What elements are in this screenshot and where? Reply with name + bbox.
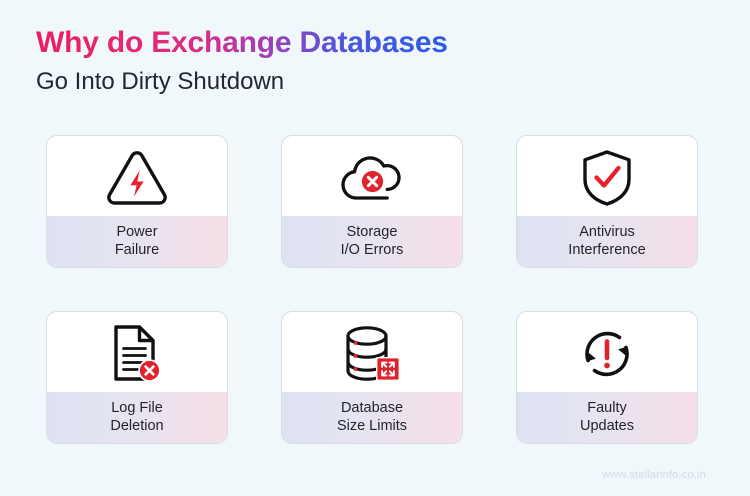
page-subtitle: Go Into Dirty Shutdown — [36, 68, 448, 97]
cloud-error-icon — [336, 150, 408, 206]
card-label-line2: Interference — [568, 242, 645, 260]
card-label-line2: Failure — [115, 242, 159, 260]
card-label-line1: Power — [116, 224, 157, 242]
cause-card-grid: Power Failure Storage I/O Errors — [46, 135, 698, 444]
card-storage-io-errors[interactable]: Storage I/O Errors — [281, 135, 463, 268]
card-power-failure[interactable]: Power Failure — [46, 135, 228, 268]
page-title: Why do Exchange Databases — [36, 26, 448, 59]
database-expand-icon — [341, 324, 403, 384]
card-label-line1: Faulty — [587, 400, 627, 418]
card-icon-area — [517, 312, 697, 392]
card-faulty-updates[interactable]: Faulty Updates — [516, 311, 698, 444]
card-label-line2: Deletion — [110, 418, 163, 436]
card-label-line1: Antivirus — [579, 224, 635, 242]
card-label: Power Failure — [47, 216, 227, 267]
card-icon-area — [517, 136, 697, 216]
card-label: Faulty Updates — [517, 392, 697, 443]
card-antivirus-interference[interactable]: Antivirus Interference — [516, 135, 698, 268]
card-icon-area — [47, 136, 227, 216]
card-icon-area — [47, 312, 227, 392]
shield-check-icon — [579, 148, 635, 208]
card-label-line2: Updates — [580, 418, 634, 436]
card-icon-area — [282, 312, 462, 392]
footer-website-url[interactable]: www.stellarinfo.co.in — [602, 469, 706, 481]
card-label: Log File Deletion — [47, 392, 227, 443]
card-label-line1: Storage — [347, 224, 398, 242]
warning-triangle-lightning-icon — [105, 149, 169, 207]
card-label-line2: Size Limits — [337, 418, 407, 436]
card-label: Antivirus Interference — [517, 216, 697, 267]
card-icon-area — [282, 136, 462, 216]
card-label-line1: Database — [341, 400, 403, 418]
card-label-line1: Log File — [111, 400, 163, 418]
refresh-alert-icon — [576, 324, 638, 384]
card-label: Database Size Limits — [282, 392, 462, 443]
card-label-line2: I/O Errors — [341, 242, 404, 260]
card-log-file-deletion[interactable]: Log File Deletion — [46, 311, 228, 444]
document-delete-icon — [108, 323, 166, 385]
card-label: Storage I/O Errors — [282, 216, 462, 267]
header: Why do Exchange Databases Go Into Dirty … — [36, 26, 448, 97]
card-database-size-limits[interactable]: Database Size Limits — [281, 311, 463, 444]
